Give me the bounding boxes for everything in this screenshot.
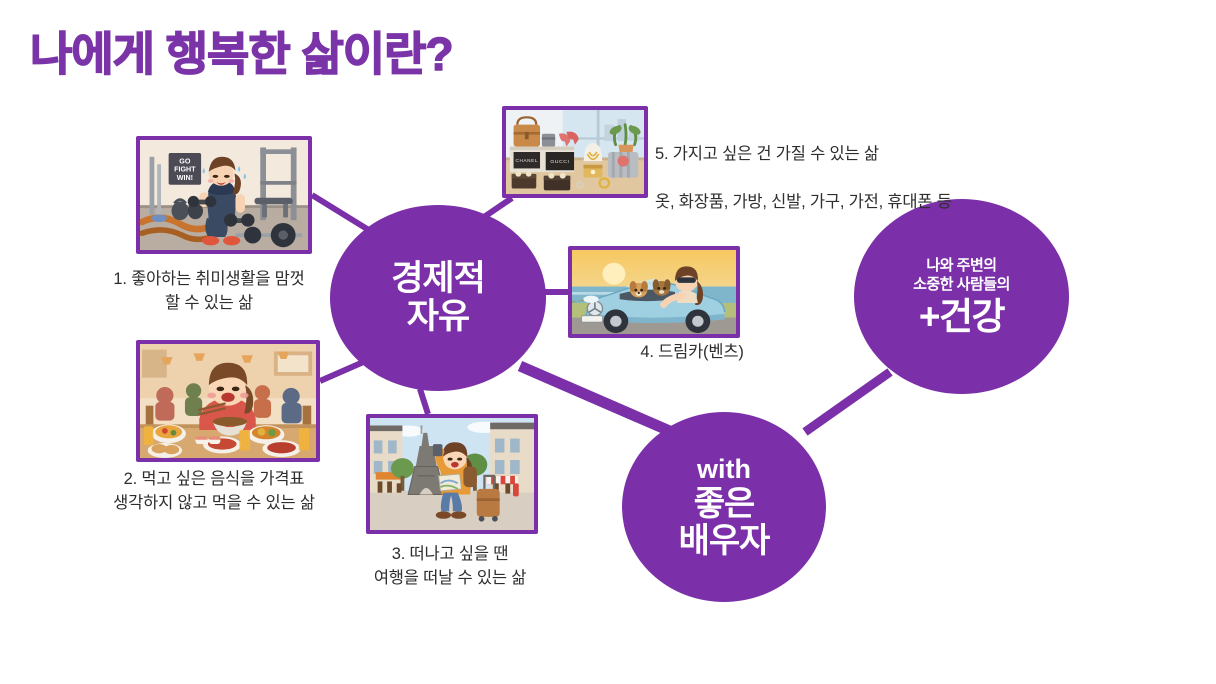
bubble-health-line3: +건강 [919, 297, 1004, 337]
bubble-spouse-line2: 좋은 [694, 486, 755, 523]
bubble-health-line1: 나와 주변의 [926, 256, 996, 275]
bubble-economy-line2: 자유 [407, 298, 469, 336]
brand-label-2: GUCCI [550, 159, 569, 165]
svg-text:WIN!: WIN! [177, 175, 193, 182]
bubble-spouse-line3: 배우자 [679, 523, 770, 560]
slide-canvas: 나에게 행복한 삶이란? GO [0, 0, 1216, 684]
caption-item-4: 4. 드림카(벤츠) [576, 341, 808, 365]
caption-item-5: 5. 가지고 싶은 건 가질 수 있는 삶 옷, 화장품, 가방, 신발, 가구… [655, 119, 1055, 239]
bubble-economic-freedom[interactable]: 경제적 자유 [330, 205, 546, 391]
bubble-good-spouse[interactable]: with 좋은 배우자 [622, 412, 826, 602]
bubble-spouse-line1: with [697, 455, 751, 484]
svg-text:GO: GO [179, 158, 191, 165]
food-illustration [140, 344, 316, 458]
connector-gym [312, 195, 372, 232]
food-image[interactable] [136, 340, 320, 462]
bubble-economy-line1: 경제적 [391, 260, 485, 298]
connector-economy-spouse [520, 366, 672, 432]
brand-label-1: CHANEL [516, 158, 538, 163]
page-title: 나에게 행복한 삶이란? [30, 18, 453, 84]
caption-item-1: 1. 좋아하는 취미생활을 맘껏 할 수 있는 삶 [64, 268, 354, 316]
gym-image[interactable]: GO FIGHT WIN! [136, 136, 312, 254]
car-illustration [572, 250, 736, 334]
car-image[interactable] [568, 246, 740, 338]
svg-text:FIGHT: FIGHT [174, 167, 196, 174]
connector-spouse-health [805, 372, 890, 432]
caption-item-3: 3. 떠나고 싶을 땐 여행을 떠날 수 있는 삶 [316, 543, 584, 591]
luxury-illustration: CHANEL GUCCI [506, 110, 644, 194]
caption-item-5-line1: 5. 가지고 싶은 건 가질 수 있는 삶 [655, 143, 1055, 167]
caption-item-5-line2: 옷, 화장품, 가방, 신발, 가구, 가전, 휴대폰 등 [655, 191, 1055, 215]
travel-image[interactable] [366, 414, 538, 534]
connector-travel [420, 389, 428, 414]
luxury-image[interactable]: CHANEL GUCCI [502, 106, 648, 198]
travel-illustration [370, 418, 534, 530]
caption-item-2: 2. 먹고 싶은 음식을 가격표 생각하지 않고 먹을 수 있는 삶 [60, 468, 368, 516]
bubble-health-line2: 소중한 사람들의 [913, 275, 1010, 294]
gym-illustration: GO FIGHT WIN! [140, 140, 308, 250]
